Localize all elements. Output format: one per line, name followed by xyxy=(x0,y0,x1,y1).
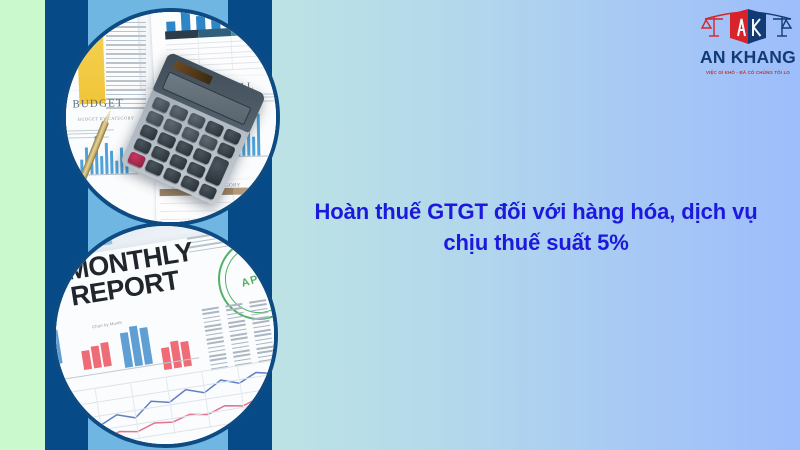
label-budget: Y BUDGET xyxy=(66,97,124,111)
headline-line-2: chịu thuế suất 5% xyxy=(282,227,790,258)
banner-canvas: Y BUDGET BUDGET BY CATEGORY FINANCIAL BU… xyxy=(0,0,800,450)
photo-circle-calculator: Y BUDGET BUDGET BY CATEGORY FINANCIAL BU… xyxy=(62,8,280,226)
report-bar-group-2 xyxy=(80,340,112,370)
photo-circle-monthly-report: MONTHLY REPORT APPR Chart by Month xyxy=(52,222,278,448)
headline-line-1: Hoàn thuế GTGT đối với hàng hóa, dịch vụ xyxy=(282,196,790,227)
scales-of-justice-shield-icon xyxy=(700,6,796,48)
yellow-highlight-column xyxy=(77,20,106,105)
report-bar-group-3 xyxy=(119,324,153,368)
report-bar-group-4 xyxy=(160,338,192,370)
green-highlight-band xyxy=(76,211,122,221)
logo-company-name: AN KHANG xyxy=(700,49,796,67)
photo-inner-bottom: MONTHLY REPORT APPR Chart by Month xyxy=(56,226,274,444)
logo-tagline: VIỆC GÌ KHÓ - ĐÃ CÓ CHÚNG TÔI LO xyxy=(700,70,796,75)
brand-logo[interactable]: AN KHANG VIỆC GÌ KHÓ - ĐÃ CÓ CHÚNG TÔI L… xyxy=(700,6,796,75)
headline-text: Hoàn thuế GTGT đối với hàng hóa, dịch vụ… xyxy=(282,196,790,258)
photo-inner-top: Y BUDGET BUDGET BY CATEGORY FINANCIAL BU… xyxy=(66,12,276,222)
